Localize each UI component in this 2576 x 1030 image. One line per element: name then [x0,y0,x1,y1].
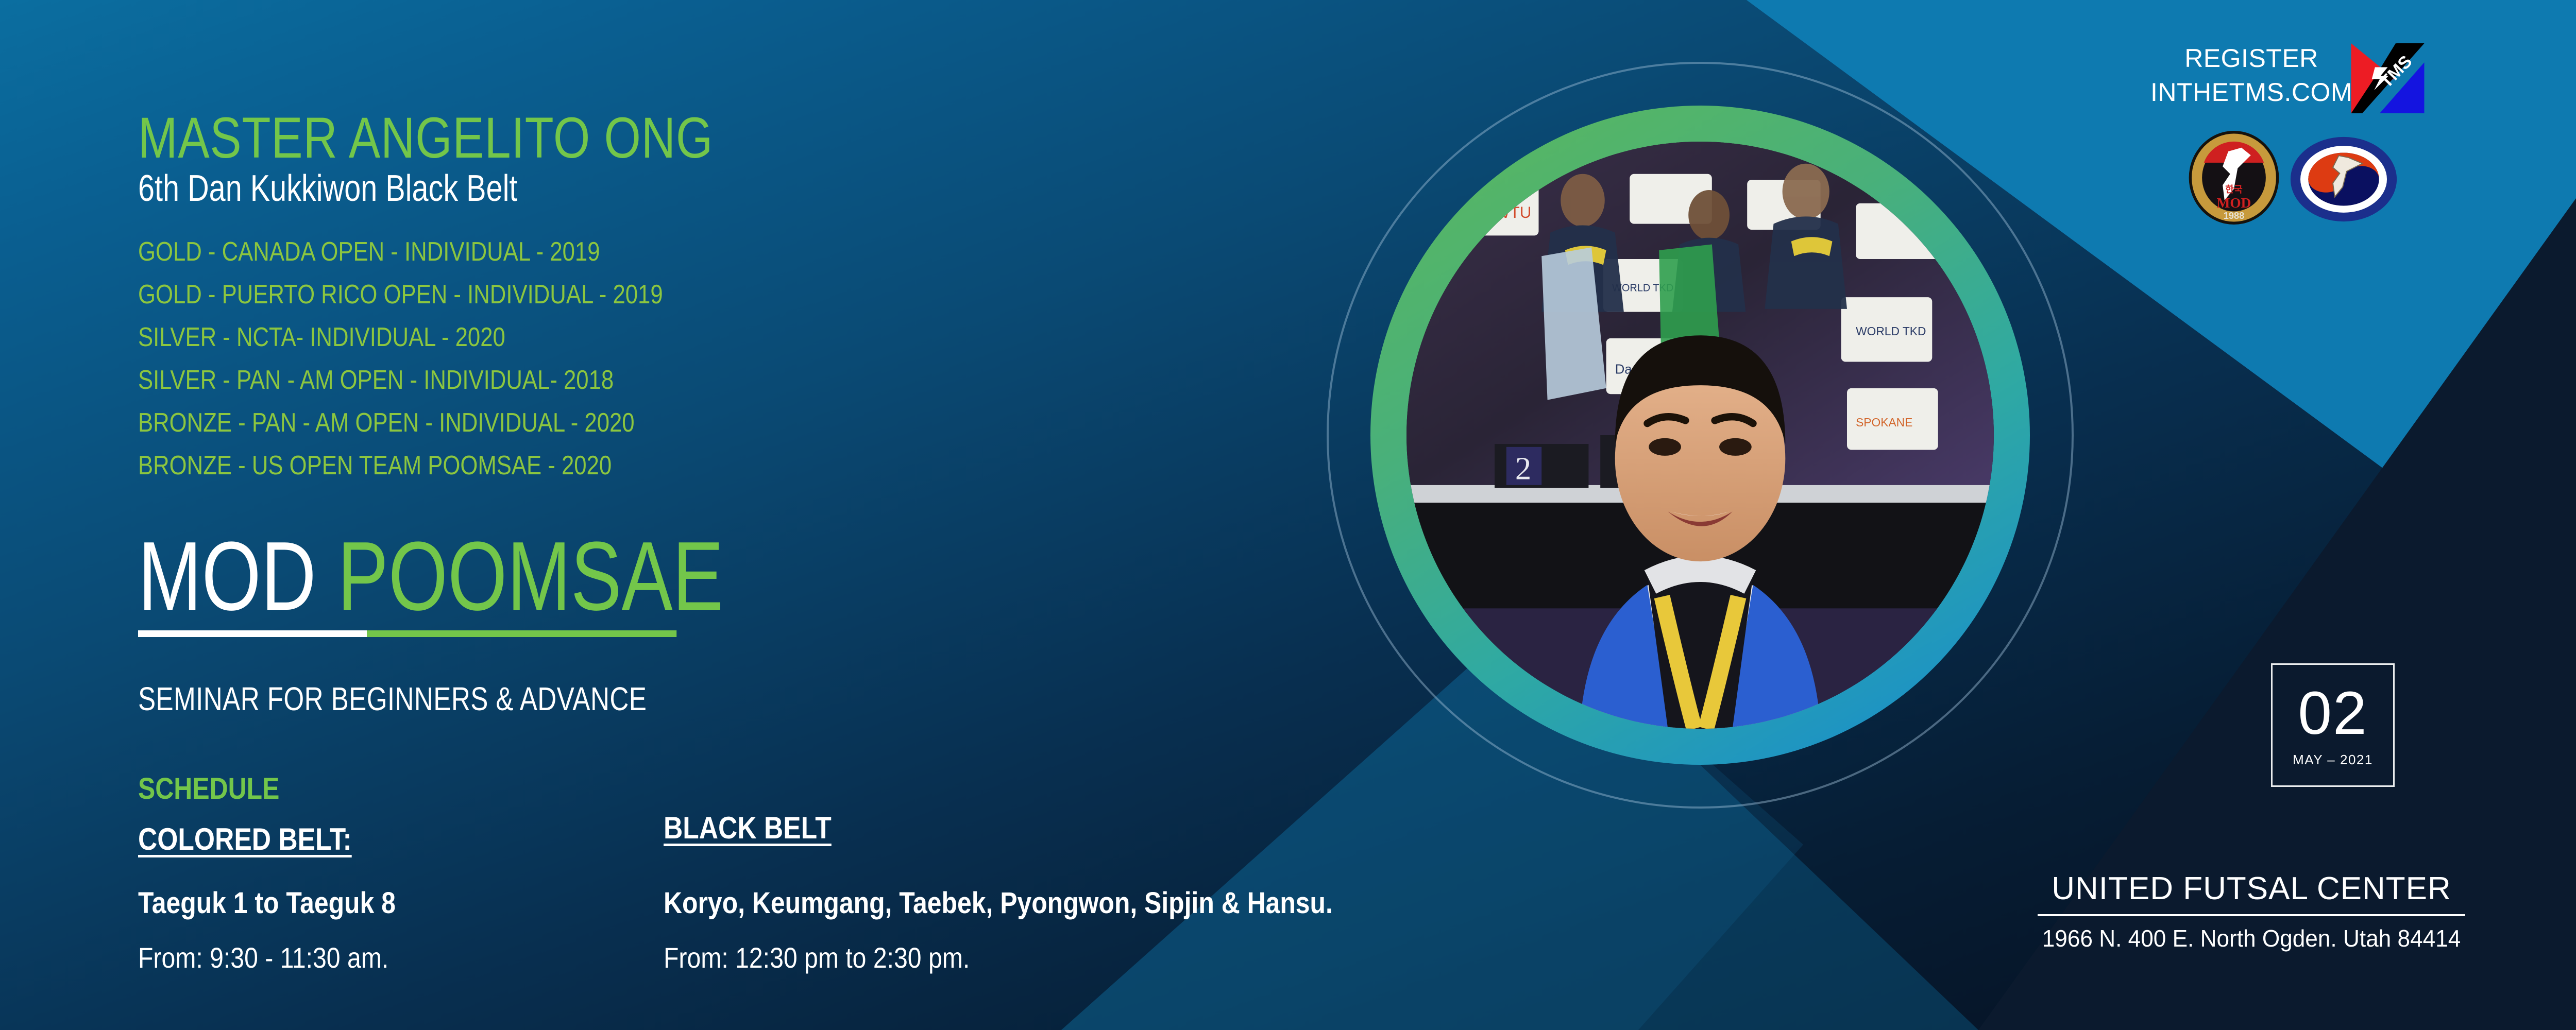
event-date-day: 02 [2298,683,2367,744]
event-title-poomsae: POOMSAE [337,522,723,631]
award-item: GOLD - CANADA OPEN - INDIVIDUAL - 2019 [138,231,663,273]
mod-martial-arts-logo-icon: 한국 MOD 1988 [2187,129,2281,227]
event-date-card: 02 MAY – 2021 [2271,663,2395,787]
colored-belt-heading: COLORED BELT: [138,821,564,857]
mod-logo-svg: 한국 MOD 1988 [2187,129,2281,227]
event-title-mod: MOD [138,522,337,631]
taekwondo-club-logo-icon [2289,136,2398,222]
venue-address: 1966 N. 400 E. North Ogden. Utah 84414 [1985,924,2519,952]
event-title: MOD POOMSAE [138,529,723,623]
svg-text:1988: 1988 [2224,211,2244,221]
instructor-photo: WTU WORLD TKD Dae do WORLD TKD SPOKANE [1406,142,1994,729]
club-logos: 한국 MOD 1988 [2187,129,2403,227]
black-belt-time: From: 12:30 pm to 2:30 pm. [664,941,1505,974]
venue-name: UNITED FUTSAL CENTER [1973,870,2530,914]
award-item: SILVER - PAN - AM OPEN - INDIVIDUAL- 201… [138,359,663,402]
venue-block: UNITED FUTSAL CENTER 1966 N. 400 E. Nort… [1973,870,2530,952]
event-date-month-year: MAY – 2021 [2293,752,2373,768]
svg-text:MOD: MOD [2217,195,2251,211]
schedule-colored-belt: COLORED BELT: Taeguk 1 to Taeguk 8 From:… [138,821,633,974]
event-title-underline [138,630,676,637]
venue-divider [2038,914,2465,916]
instructor-rank: 6th Dan Kukkiwon Black Belt [138,170,517,207]
schedule-black-belt: BLACK BELT Koryo, Keumgang, Taebek, Pyon… [664,821,1642,974]
event-title-block: MOD POOMSAE [138,529,889,637]
award-item: BRONZE - PAN - AM OPEN - INDIVIDUAL - 20… [138,402,663,444]
register-label: REGISTER [2117,41,2385,75]
seminar-poster: WTU WORLD TKD Dae do WORLD TKD SPOKANE [0,0,2576,1030]
taekwondo-logo-svg [2289,136,2398,222]
award-item: SILVER - NCTA- INDIVIDUAL - 2020 [138,316,663,359]
svg-text:SPOKANE: SPOKANE [1856,416,1912,429]
svg-text:2: 2 [1515,451,1531,487]
instructor-photo-illustration: WTU WORLD TKD Dae do WORLD TKD SPOKANE [1406,142,1994,729]
colored-belt-forms: Taeguk 1 to Taeguk 8 [138,886,564,920]
register-block[interactable]: REGISTER INTHETMS.COM [2117,41,2385,109]
award-item: GOLD - PUERTO RICO OPEN - INDIVIDUAL - 2… [138,273,663,316]
tms-logo-svg: TMS [2348,40,2428,115]
schedule-heading: SCHEDULE [138,771,279,806]
tms-logo-icon: TMS [2348,40,2428,115]
awards-list: GOLD - CANADA OPEN - INDIVIDUAL - 2019 G… [138,231,763,487]
award-item: BRONZE - US OPEN TEAM POOMSAE - 2020 [138,444,663,487]
black-belt-forms: Koryo, Keumgang, Taebek, Pyongwon, Sipji… [664,886,1505,920]
instructor-name: MASTER ANGELITO ONG [138,109,713,167]
event-subtitle: SEMINAR FOR BEGINNERS & ADVANCE [138,680,647,718]
colored-belt-time: From: 9:30 - 11:30 am. [138,941,564,974]
register-url[interactable]: INTHETMS.COM [2117,75,2385,109]
svg-text:WORLD TKD: WORLD TKD [1856,324,1926,338]
black-belt-heading: BLACK BELT [664,810,1505,846]
svg-text:한국: 한국 [2225,184,2243,195]
